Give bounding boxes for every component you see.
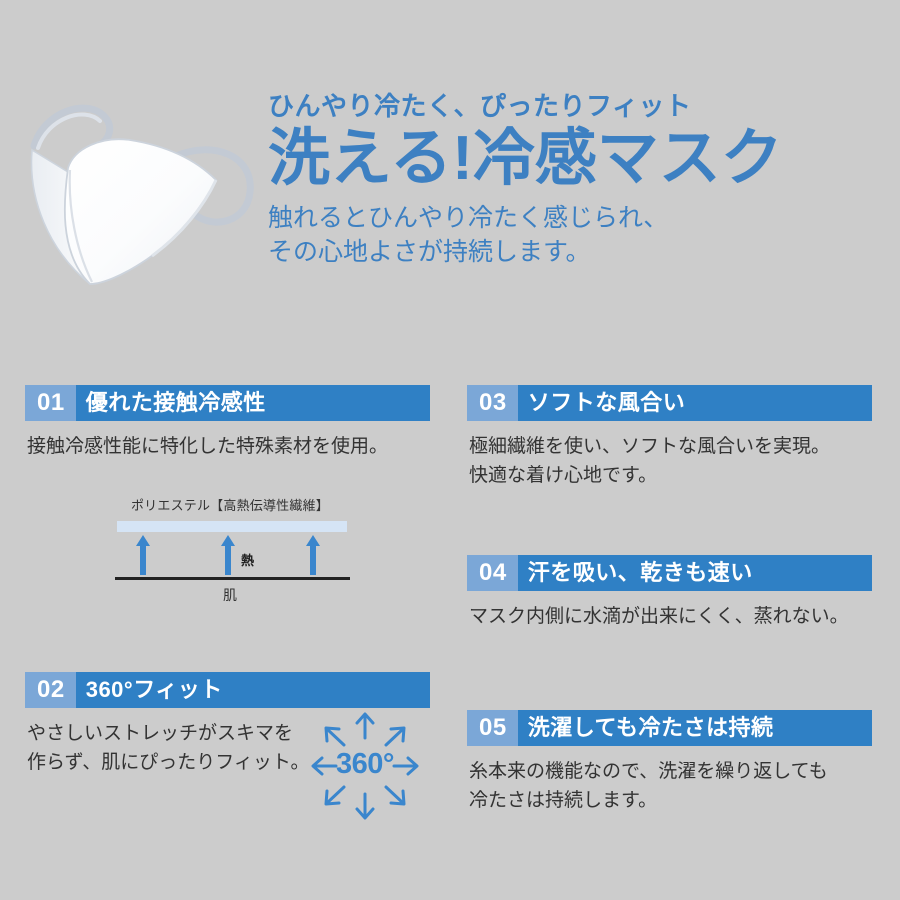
feature-block-03: 03 ソフトな風合い 極細繊維を使い、ソフトな風合いを実現。 快適な着け心地です… xyxy=(467,385,872,490)
hero-text-block: ひんやり冷たく、ぴったりフィット 洗える!冷感マスク 触れるとひんやり冷たく感じ… xyxy=(268,92,888,270)
feature-header-02: 02 360°フィット xyxy=(25,672,430,708)
feature-body-05-line-1: 糸本来の機能なので、洗濯を繰り返しても xyxy=(469,758,872,787)
feature-body-04-line-1: マスク内側に水滴が出来にくく、蒸れない。 xyxy=(469,603,872,632)
up-arrow-icon xyxy=(136,535,150,575)
diagram-fiber-layer xyxy=(117,521,347,532)
hero-subtitle-line-1: 触れるとひんやり冷たく感じられ、 xyxy=(268,201,888,236)
feature-body-01: 接触冷感性能に特化した特殊素材を使用。 xyxy=(25,433,430,462)
feature-title-04: 汗を吸い、乾きも速い xyxy=(518,555,753,591)
hero-subtitle: 触れるとひんやり冷たく感じられ、 その心地よさが持続します。 xyxy=(268,201,888,270)
arrow-up-left xyxy=(326,728,344,745)
arrow-down xyxy=(357,794,373,818)
arrow-up xyxy=(357,714,373,738)
diagram-skin-label: 肌 xyxy=(95,585,365,605)
icon360-label: 360° xyxy=(300,748,430,781)
thermal-conduction-diagram: ポリエステル【高熱伝導性繊維】 熱 肌 xyxy=(95,495,365,610)
feature-header-05: 05 洗濯しても冷たさは持続 xyxy=(467,710,872,746)
arrow-down-right xyxy=(386,787,404,804)
page-title: 洗える!冷感マスク xyxy=(268,126,888,193)
feature-body-02-line-2: 作らず、肌にぴったりフィット。 xyxy=(27,749,317,778)
feature-body-02: やさしいストレッチがスキマを 作らず、肌にぴったりフィット。 xyxy=(25,720,317,777)
feature-body-03: 極細繊維を使い、ソフトな風合いを実現。 快適な着け心地です。 xyxy=(467,433,872,490)
infographic-page: ひんやり冷たく、ぴったりフィット 洗える!冷感マスク 触れるとひんやり冷たく感じ… xyxy=(0,0,900,900)
hero-subtitle-line-2: その心地よさが持続します。 xyxy=(268,235,888,270)
feature-number-02: 02 xyxy=(25,672,76,708)
feature-body-05-line-2: 冷たさは持続します。 xyxy=(469,787,872,816)
hero-section: ひんやり冷たく、ぴったりフィット 洗える!冷感マスク 触れるとひんやり冷たく感じ… xyxy=(0,0,900,330)
feature-body-04: マスク内側に水滴が出来にくく、蒸れない。 xyxy=(467,603,872,632)
feature-title-05: 洗濯しても冷たさは持続 xyxy=(518,710,774,746)
arrow-up-right xyxy=(386,728,404,745)
feature-body-01-line-1: 接触冷感性能に特化した特殊素材を使用。 xyxy=(27,433,430,462)
feature-body-02-line-1: やさしいストレッチがスキマを xyxy=(27,720,317,749)
feature-title-01: 優れた接触冷感性 xyxy=(76,385,266,421)
feature-title-02: 360°フィット xyxy=(76,672,223,708)
arrow-down-left xyxy=(326,787,344,804)
up-arrow-icon xyxy=(221,535,235,575)
diagram-fiber-label: ポリエステル【高熱伝導性繊維】 xyxy=(95,495,365,514)
feature-header-04: 04 汗を吸い、乾きも速い xyxy=(467,555,872,591)
feature-number-05: 05 xyxy=(467,710,518,746)
feature-body-03-line-2: 快適な着け心地です。 xyxy=(469,462,872,491)
feature-block-04: 04 汗を吸い、乾きも速い マスク内側に水滴が出来にくく、蒸れない。 xyxy=(467,555,872,632)
feature-title-03: ソフトな風合い xyxy=(518,385,686,421)
up-arrow-icon xyxy=(306,535,320,575)
feature-block-05: 05 洗濯しても冷たさは持続 糸本来の機能なので、洗濯を繰り返しても 冷たさは持… xyxy=(467,710,872,815)
feature-body-03-line-1: 極細繊維を使い、ソフトな風合いを実現。 xyxy=(469,433,872,462)
feature-number-03: 03 xyxy=(467,385,518,421)
eight-direction-arrows-icon: 360° xyxy=(300,710,430,822)
feature-number-01: 01 xyxy=(25,385,76,421)
feature-number-04: 04 xyxy=(467,555,518,591)
feature-body-05: 糸本来の機能なので、洗濯を繰り返しても 冷たさは持続します。 xyxy=(467,758,872,815)
diagram-heat-label: 熱 xyxy=(241,550,254,569)
feature-block-01: 01 優れた接触冷感性 接触冷感性能に特化した特殊素材を使用。 xyxy=(25,385,430,462)
feature-header-03: 03 ソフトな風合い xyxy=(467,385,872,421)
face-mask-illustration xyxy=(18,88,258,303)
diagram-skin-line xyxy=(115,577,350,580)
hero-kicker: ひんやり冷たく、ぴったりフィット xyxy=(268,92,888,122)
feature-header-01: 01 優れた接触冷感性 xyxy=(25,385,430,421)
